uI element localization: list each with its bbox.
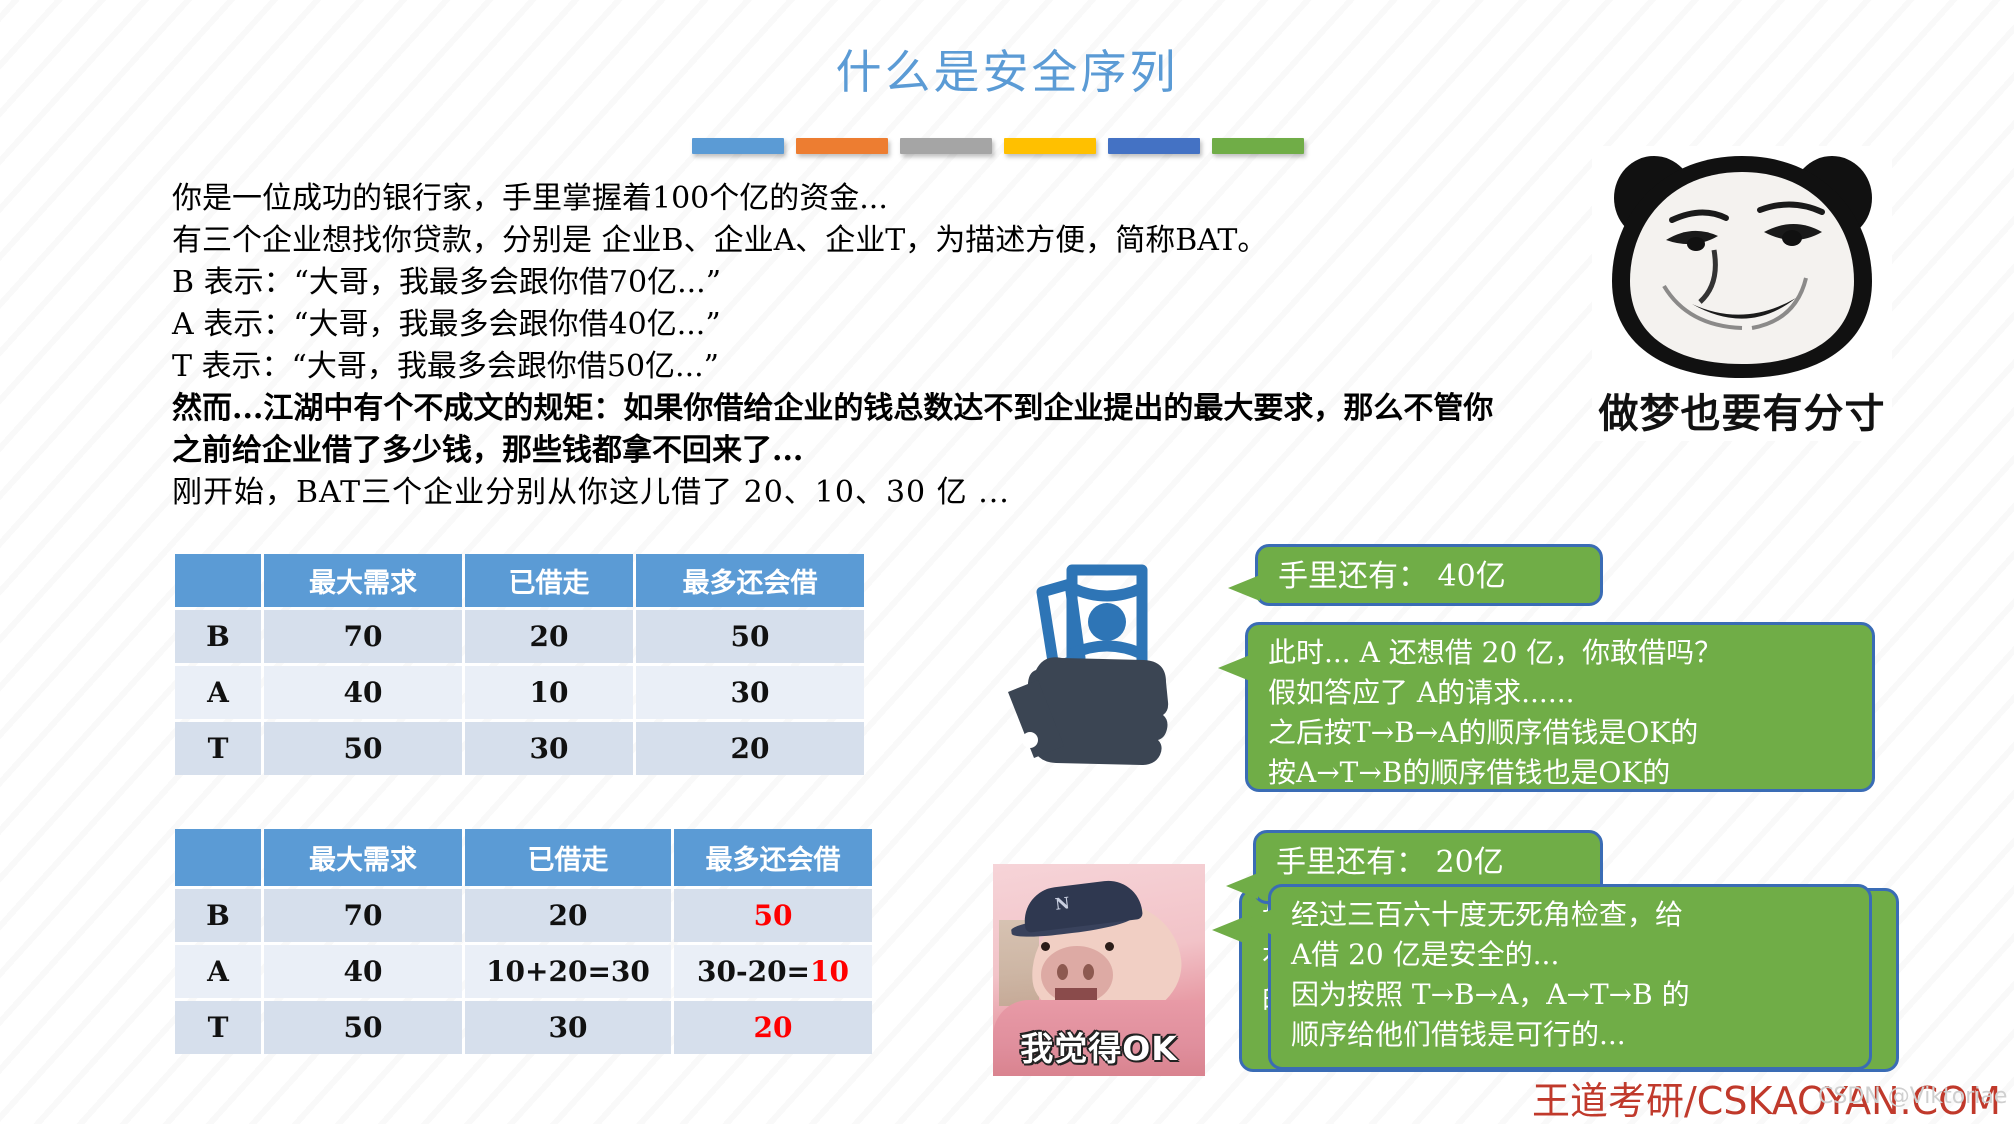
body-line-3: B 表示：“大哥，我最多会跟你借70亿...”: [172, 262, 1502, 304]
cell-max: 40: [264, 945, 462, 998]
bubble-tail: [1218, 655, 1250, 681]
table-header-row: 最大需求 已借走 最多还会借: [175, 829, 872, 886]
cell-more: 30-20=10: [674, 945, 872, 998]
cell-got: 30: [465, 1001, 671, 1054]
slide-canvas: 什么是安全序列 你是一位成功的银行家，手里掌握着100个亿的资金... 有三个企…: [0, 0, 2014, 1124]
cell-name: B: [175, 610, 261, 663]
th-max-demand: 最大需求: [264, 554, 462, 607]
bubble-tail: [1226, 873, 1258, 899]
accent-bar-5: [1108, 138, 1200, 154]
cell-more: 50: [674, 889, 872, 942]
body-emphasis: 然而...江湖中有个不成文的规矩：如果你借给企业的钱总数达不到企业提出的最大要求…: [172, 391, 1493, 468]
bubble-line: 此时... A 还想借 20 亿，你敢借吗？: [1268, 636, 1722, 669]
bubble-line: A借 20 亿是安全的...: [1291, 938, 1559, 971]
speech-bubble-safety-check: 经过三百六十度无死角检查，给 A借 20 亿是安全的... 因为按照 T→B→A…: [1268, 884, 1872, 1070]
cell-more: 20: [636, 722, 864, 775]
body-text-block: 你是一位成功的银行家，手里掌握着100个亿的资金... 有三个企业想找你贷款，分…: [172, 178, 1502, 514]
accent-bar-2: [796, 138, 888, 154]
th-max-demand: 最大需求: [264, 829, 462, 886]
allocation-table-after-loan: 最大需求 已借走 最多还会借 B 70 20 50 A 40 10+20=30 …: [172, 826, 875, 1057]
bubble-line: 因为按照 T→B→A，A→T→B 的: [1291, 978, 1690, 1011]
table-row: B 70 20 50: [175, 610, 864, 663]
bubble-line: 之后按T→B→A的顺序借钱是OK的: [1268, 716, 1698, 749]
bubble-line: 手里还有： 40亿: [1278, 559, 1506, 594]
body-line-1: 你是一位成功的银行家，手里掌握着100个亿的资金...: [172, 178, 1502, 220]
cell-got: 30: [465, 722, 633, 775]
body-last-line: 刚开始，BAT三个企业分别从你这儿借了 20、10、30 亿 ...: [172, 472, 1502, 514]
table-row: T 50 30 20: [175, 1001, 872, 1054]
csdn-watermark: CSDN @Viktoriae: [1818, 1084, 2007, 1109]
cell-got: 20: [465, 889, 671, 942]
cell-more-value: 20: [754, 1011, 793, 1044]
bubble-line: 手里还有： 20亿: [1276, 845, 1504, 880]
body-line-5: T 表示：“大哥，我最多会跟你借50亿...”: [172, 346, 1502, 388]
table-row: T 50 30 20: [175, 722, 864, 775]
money-hand-svg: [1006, 562, 1226, 782]
table-row: A 40 10 30: [175, 666, 864, 719]
th-already-borrowed: 已借走: [465, 554, 633, 607]
th-already-borrowed: 已借走: [465, 829, 671, 886]
cell-max: 70: [264, 889, 462, 942]
cell-name: T: [175, 1001, 261, 1054]
allocation-table-initial: 最大需求 已借走 最多还会借 B 70 20 50 A 40 10 30 T 5…: [172, 551, 867, 778]
panda-face-icon: [1592, 146, 1892, 386]
cell-more-value: 10: [810, 955, 849, 988]
table-row: B 70 20 50: [175, 889, 872, 942]
cell-name: B: [175, 889, 261, 942]
cell-got: 10+20=30: [465, 945, 671, 998]
cell-more-expr: 30-20=: [697, 955, 810, 988]
cell-got: 20: [465, 610, 633, 663]
pig-meme-image: N 我觉得OK: [993, 864, 1205, 1076]
pig-nostril-left: [1057, 964, 1068, 980]
cash-in-hand-icon: [1006, 562, 1226, 782]
cell-name: T: [175, 722, 261, 775]
bubble-tail: [1241, 909, 1273, 935]
panda-caption: 做梦也要有分寸: [1592, 386, 1892, 442]
body-line-2: 有三个企业想找你贷款，分别是 企业B、企业A、企业T，为描述方便，简称BAT。: [172, 220, 1502, 262]
page-title: 什么是安全序列: [0, 36, 2014, 102]
bubble-tail: [1228, 575, 1260, 601]
body-line-4: A 表示：“大哥，我最多会跟你借40亿...”: [172, 304, 1502, 346]
cell-more-value: 50: [754, 899, 793, 932]
panda-meme-image: 做梦也要有分寸: [1592, 146, 1892, 441]
accent-bar-6: [1212, 138, 1304, 154]
th-name: [175, 829, 261, 886]
pig-nostril-right: [1083, 964, 1094, 980]
bubble-tail: [1212, 917, 1244, 943]
th-max-still-borrow: 最多还会借: [636, 554, 864, 607]
pig-eye-right: [1105, 942, 1114, 951]
cell-name: A: [175, 666, 261, 719]
bubble-line: 假如答应了 A的请求......: [1268, 676, 1575, 709]
table-header-row: 最大需求 已借走 最多还会借: [175, 554, 864, 607]
pig-cap-letter: N: [1054, 893, 1071, 914]
cell-name: A: [175, 945, 261, 998]
th-name: [175, 554, 261, 607]
cell-max: 70: [264, 610, 462, 663]
cell-more: 20: [674, 1001, 872, 1054]
accent-bar-4: [1004, 138, 1096, 154]
cell-got: 10: [465, 666, 633, 719]
pig-eye-left: [1041, 942, 1050, 951]
cell-more: 50: [636, 610, 864, 663]
cell-more: 30: [636, 666, 864, 719]
accent-bar-group: [692, 138, 1304, 154]
table-row: A 40 10+20=30 30-20=10: [175, 945, 872, 998]
cell-max: 40: [264, 666, 462, 719]
bubble-line: 按A→T→B的顺序借钱也是OK的: [1268, 756, 1670, 789]
bubble-line: 顺序给他们借钱是可行的...: [1291, 1018, 1626, 1051]
cell-max: 50: [264, 722, 462, 775]
th-max-still-borrow: 最多还会借: [674, 829, 872, 886]
speech-bubble-cash-remaining-40: 手里还有： 40亿: [1255, 544, 1603, 606]
pig-caption: 我觉得OK: [993, 1022, 1205, 1070]
cell-max: 50: [264, 1001, 462, 1054]
accent-bar-3: [900, 138, 992, 154]
accent-bar-1: [692, 138, 784, 154]
bubble-line: 经过三百六十度无死角检查，给: [1291, 898, 1683, 931]
speech-bubble-request-20: 此时... A 还想借 20 亿，你敢借吗？ 假如答应了 A的请求...... …: [1245, 622, 1875, 792]
